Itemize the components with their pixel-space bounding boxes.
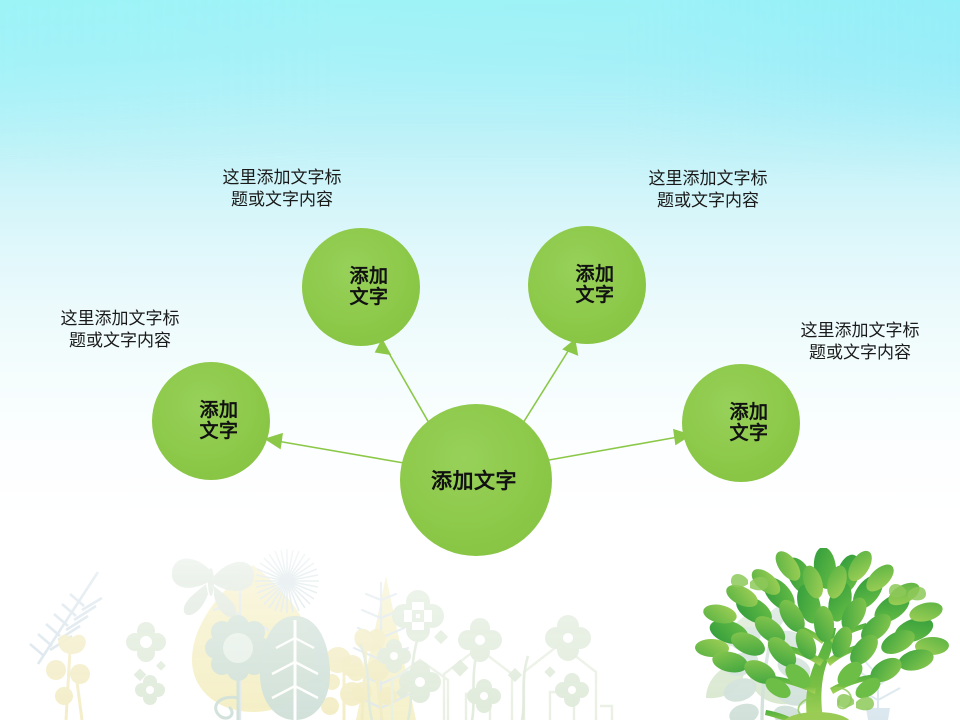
center-node-label: 添加文字	[431, 470, 517, 494]
caption-left[interactable]: 这里添加文字标 题或文字内容	[30, 308, 210, 353]
node-left[interactable]: 添加 文字	[152, 362, 270, 480]
connector-to-top-right	[523, 348, 570, 423]
caption-right[interactable]: 这里添加文字标 题或文字内容	[770, 320, 950, 365]
slide-canvas: 添加文字 添加 文字 添加 文字 添加 文字 添加 文字 这里添加文字标 题或文…	[0, 0, 960, 720]
node-top-right-label: 添加 文字	[575, 264, 614, 307]
node-right-label: 添加 文字	[729, 402, 768, 445]
node-top-left-label: 添加 文字	[349, 266, 388, 309]
connector-to-top-left	[386, 348, 429, 423]
center-node[interactable]: 添加文字	[400, 404, 552, 556]
node-right[interactable]: 添加 文字	[682, 364, 800, 482]
caption-top-right[interactable]: 这里添加文字标 题或文字内容	[618, 168, 798, 213]
connector-to-left	[277, 441, 404, 463]
node-top-left[interactable]: 添加 文字	[302, 228, 420, 346]
node-left-label: 添加 文字	[199, 400, 238, 443]
caption-top-left[interactable]: 这里添加文字标 题或文字内容	[192, 167, 372, 212]
radial-diagram: 添加文字 添加 文字 添加 文字 添加 文字 添加 文字 这里添加文字标 题或文…	[0, 0, 960, 720]
node-top-right[interactable]: 添加 文字	[528, 226, 646, 344]
connector-to-right	[549, 437, 678, 460]
